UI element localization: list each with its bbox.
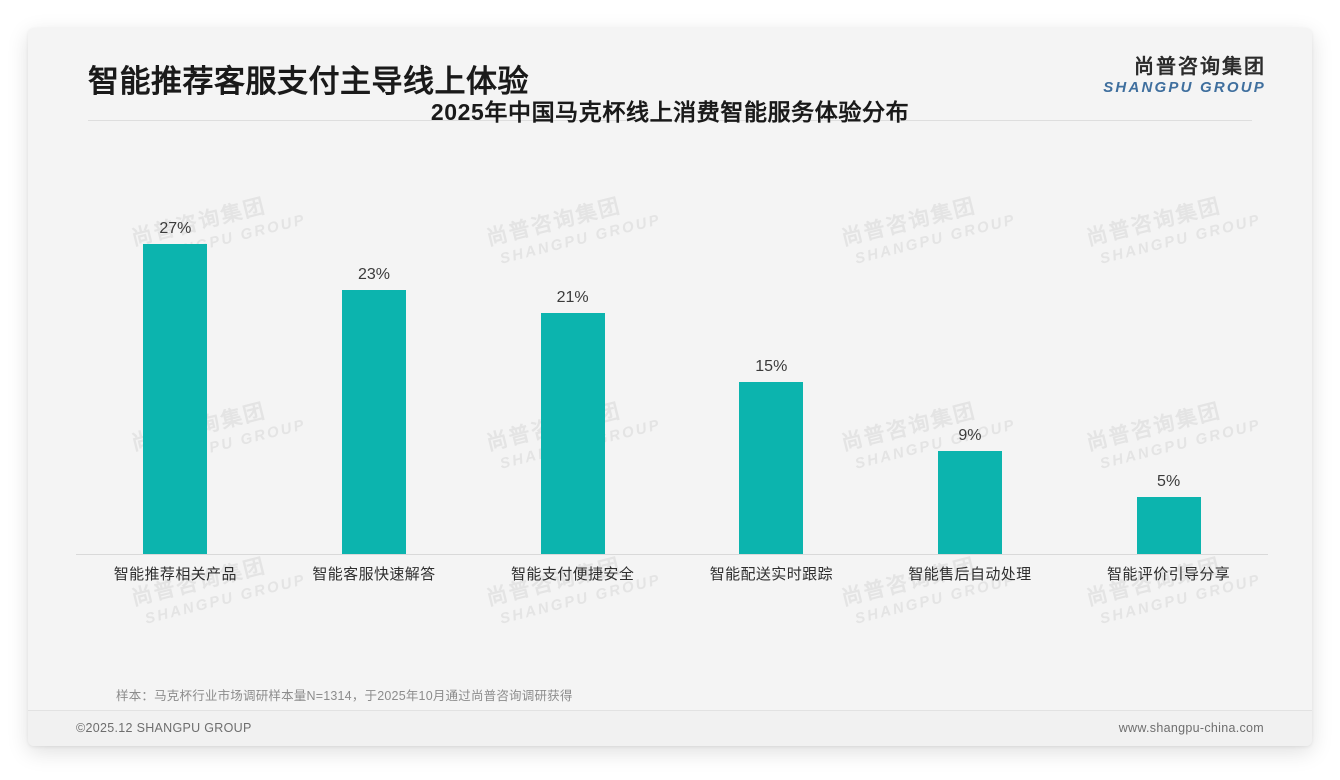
bar-column[interactable]: 23%: [275, 173, 473, 555]
bar-value-label: 5%: [1157, 474, 1180, 490]
bar-value-label: 9%: [958, 428, 981, 444]
bar-column[interactable]: 27%: [76, 173, 274, 555]
bar-rect[interactable]: [1137, 497, 1201, 555]
sample-footnote: 样本：马克杯行业市场调研样本量N=1314，于2025年10月通过尚普咨询调研获…: [116, 685, 573, 704]
bar-value-label: 15%: [755, 359, 787, 375]
brand-logo: 尚普咨询集团 SHANGPU GROUP: [1103, 56, 1266, 97]
bar-rect[interactable]: [143, 244, 207, 555]
bar-rect[interactable]: [739, 382, 803, 555]
logo-chinese-name: 尚普咨询集团: [1103, 56, 1266, 78]
x-axis-tick-labels: 智能推荐相关产品智能客服快速解答智能支付便捷安全智能配送实时跟踪智能售后自动处理…: [76, 563, 1268, 584]
bar-rect[interactable]: [541, 313, 605, 555]
chart-title: 2025年中国马克杯线上消费智能服务体验分布: [28, 93, 1312, 127]
footer-website[interactable]: www.shangpu-china.com: [1119, 721, 1264, 735]
bar-column[interactable]: 15%: [672, 173, 870, 555]
bar-value-label: 27%: [159, 221, 191, 237]
x-axis-line: [76, 554, 1268, 555]
x-axis-tick-label: 智能支付便捷安全: [474, 563, 672, 584]
bar-column[interactable]: 9%: [871, 173, 1069, 555]
bar-rect[interactable]: [342, 290, 406, 555]
chart-plot-area: 27%23%21%15%9%5%: [76, 173, 1268, 555]
bar-value-label: 21%: [557, 290, 589, 306]
x-axis-tick-label: 智能售后自动处理: [871, 563, 1069, 584]
slide-footer: ©2025.12 SHANGPU GROUP www.shangpu-china…: [28, 710, 1312, 746]
bar-rect[interactable]: [938, 451, 1002, 555]
bar-series: 27%23%21%15%9%5%: [76, 173, 1268, 555]
x-axis-tick-label: 智能配送实时跟踪: [672, 563, 870, 584]
bar-value-label: 23%: [358, 267, 390, 283]
bar-column[interactable]: 5%: [1070, 173, 1268, 555]
slide-card: 智能推荐客服支付主导线上体验 尚普咨询集团 SHANGPU GROUP 尚普咨询…: [28, 28, 1312, 746]
x-axis-tick-label: 智能评价引导分享: [1070, 563, 1268, 584]
x-axis-tick-label: 智能客服快速解答: [275, 563, 473, 584]
footer-copyright: ©2025.12 SHANGPU GROUP: [76, 721, 252, 735]
bar-column[interactable]: 21%: [474, 173, 672, 555]
footer-divider: [28, 710, 1312, 711]
x-axis-tick-label: 智能推荐相关产品: [76, 563, 274, 584]
